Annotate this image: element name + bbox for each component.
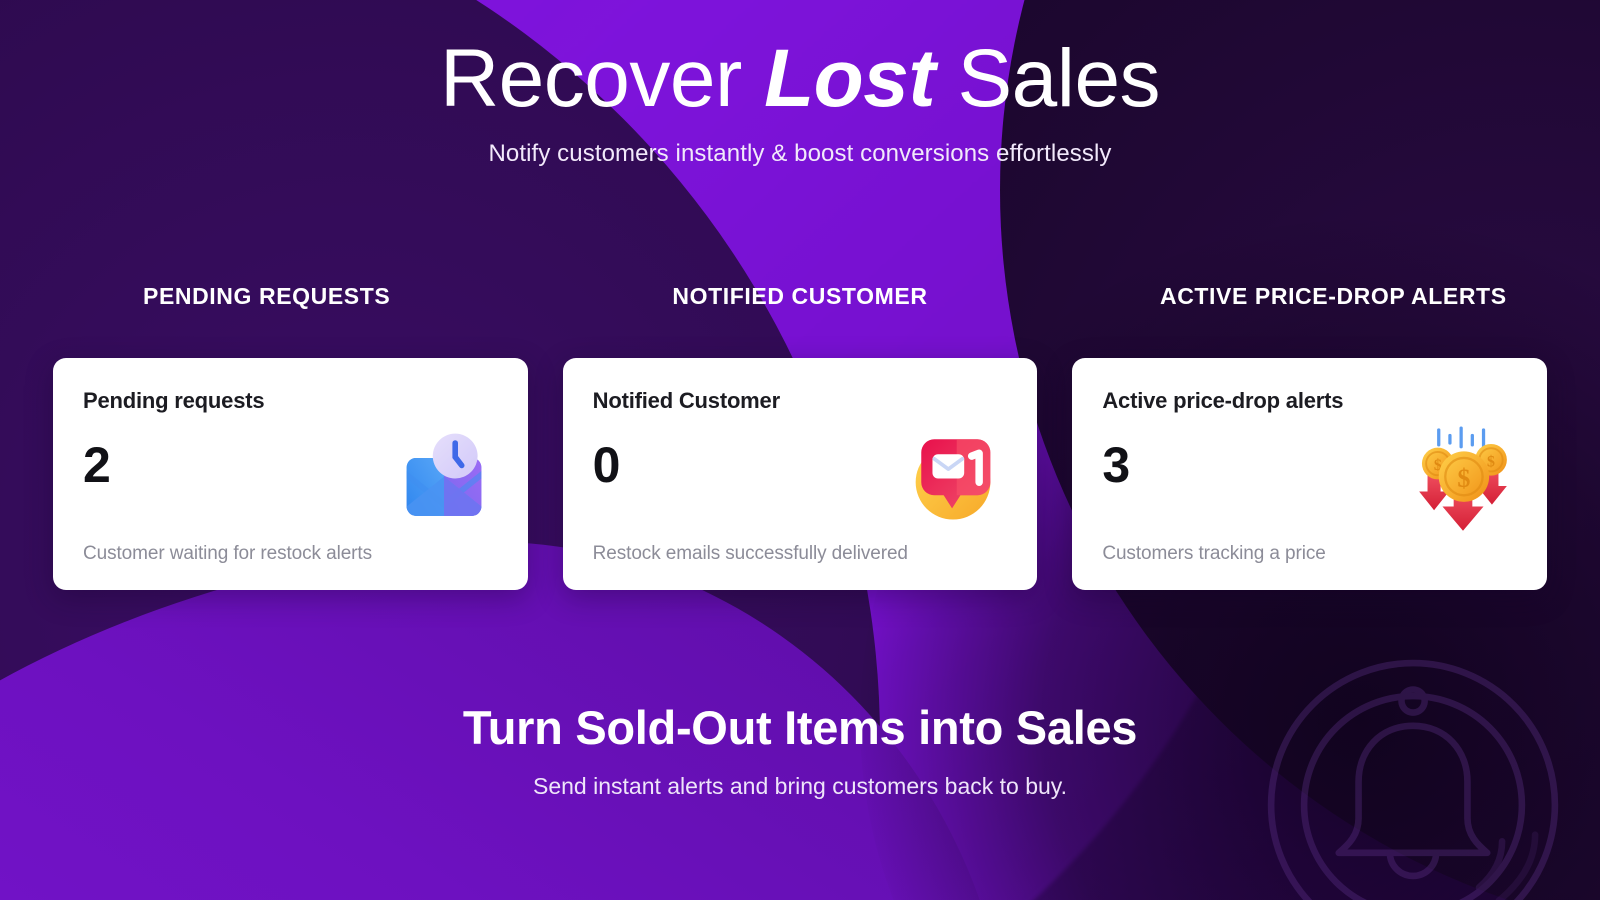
column-label-pending-requests: PENDING REQUESTS: [0, 283, 533, 310]
stat-card-price-drop-alerts[interactable]: Active price-drop alerts 3 Customers tra…: [1072, 358, 1547, 590]
promo-banner-stage: Recover Lost Sales Notify customers inst…: [0, 0, 1600, 900]
page-title: Recover Lost Sales: [0, 36, 1600, 122]
card-title: Active price-drop alerts: [1102, 388, 1517, 414]
card-description: Customer waiting for restock alerts: [83, 543, 372, 565]
envelope-clock-icon: [388, 422, 500, 534]
card-description: Restock emails successfully delivered: [593, 543, 908, 565]
card-title: Notified Customer: [593, 388, 1008, 414]
column-label-notified-customer: NOTIFIED CUSTOMER: [533, 283, 1066, 310]
card-description: Customers tracking a price: [1102, 543, 1325, 565]
column-label-price-drop-alerts: ACTIVE PRICE-DROP ALERTS: [1067, 283, 1600, 310]
coins-price-drop-icon: $ $ $: [1407, 422, 1519, 534]
page-subtitle: Notify customers instantly & boost conve…: [0, 140, 1600, 168]
footer-cta: Turn Sold-Out Items into Sales Send inst…: [0, 700, 1600, 800]
footer-title: Turn Sold-Out Items into Sales: [0, 700, 1600, 755]
hero-header: Recover Lost Sales Notify customers inst…: [0, 0, 1600, 168]
page-title-part1: Recover: [440, 33, 764, 124]
page-title-emphasis: Lost: [764, 33, 935, 124]
svg-text:$: $: [1457, 464, 1470, 493]
mail-notification-badge-icon: [897, 422, 1009, 534]
column-labels-row: PENDING REQUESTS NOTIFIED CUSTOMER ACTIV…: [0, 283, 1600, 310]
stat-card-pending-requests[interactable]: Pending requests 2 Customer waiting for …: [53, 358, 528, 590]
card-title: Pending requests: [83, 388, 498, 414]
stat-card-notified-customer[interactable]: Notified Customer 0 Restock emails succe…: [563, 358, 1038, 590]
footer-subtitle: Send instant alerts and bring customers …: [0, 773, 1600, 800]
page-title-part2: Sales: [935, 33, 1160, 124]
svg-text:$: $: [1487, 453, 1495, 470]
stat-cards-row: Pending requests 2 Customer waiting for …: [53, 358, 1547, 590]
